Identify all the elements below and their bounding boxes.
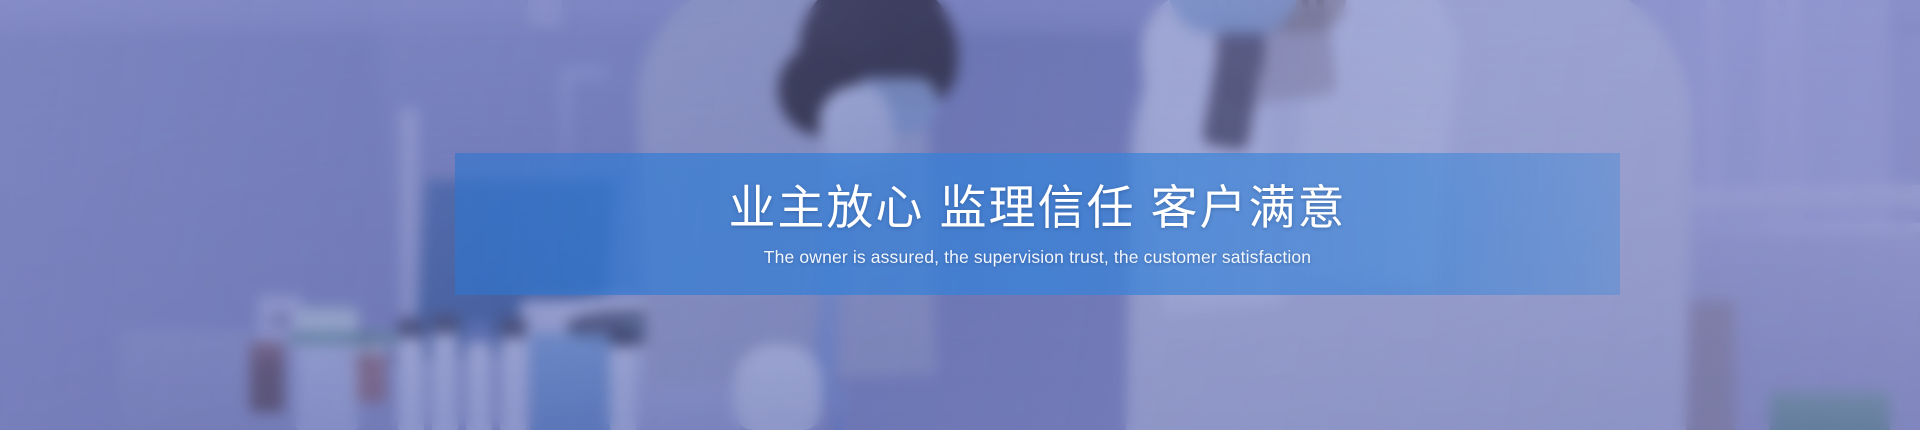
banner-headline: 业主放心 监理信任 客户满意 [728,180,1346,235]
hero-banner: 业主放心 监理信任 客户满意 The owner is assured, the… [0,0,1920,430]
banner-subheadline: The owner is assured, the supervision tr… [764,247,1311,268]
banner-caption: 业主放心 监理信任 客户满意 The owner is assured, the… [455,153,1620,295]
